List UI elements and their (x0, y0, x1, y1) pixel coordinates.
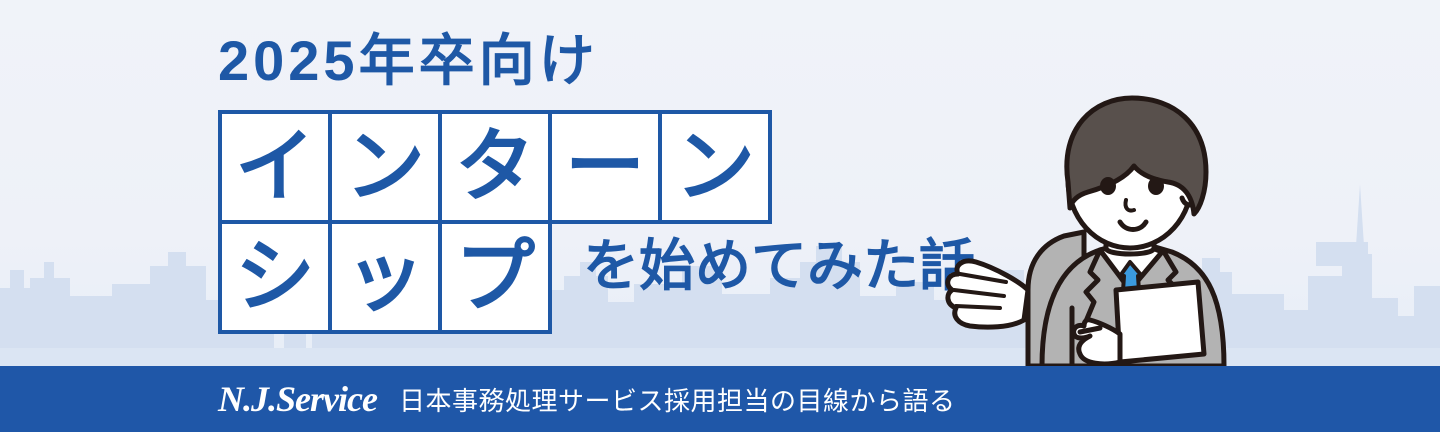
bottom-bar: N.J.Service 日本事務処理サービス採用担当の目線から語る (0, 366, 1440, 432)
headline-year: 2025年卒向け (218, 33, 599, 89)
kana-box: ッ (328, 220, 442, 334)
kana-row-1: イ ン タ ー ン (218, 110, 768, 224)
title-tail-text: を始めてみた話 (583, 238, 975, 294)
kana-box: プ (438, 220, 552, 334)
kana-box: ン (658, 110, 772, 224)
kana-box: イ (218, 110, 332, 224)
businessman-illustration (924, 76, 1244, 366)
kana-box: タ (438, 110, 552, 224)
title-kana-grid: イ ン タ ー ン シ ッ プ (218, 110, 768, 334)
recruitment-banner: 2025年卒向け イ ン タ ー ン シ ッ プ を始めてみた話 (0, 0, 1440, 432)
kana-box: ン (328, 110, 442, 224)
company-logo: N.J.Service (218, 378, 377, 420)
kana-box: ー (548, 110, 662, 224)
bottom-bar-tagline: 日本事務処理サービス採用担当の目線から語る (399, 381, 956, 418)
kana-box: シ (218, 220, 332, 334)
